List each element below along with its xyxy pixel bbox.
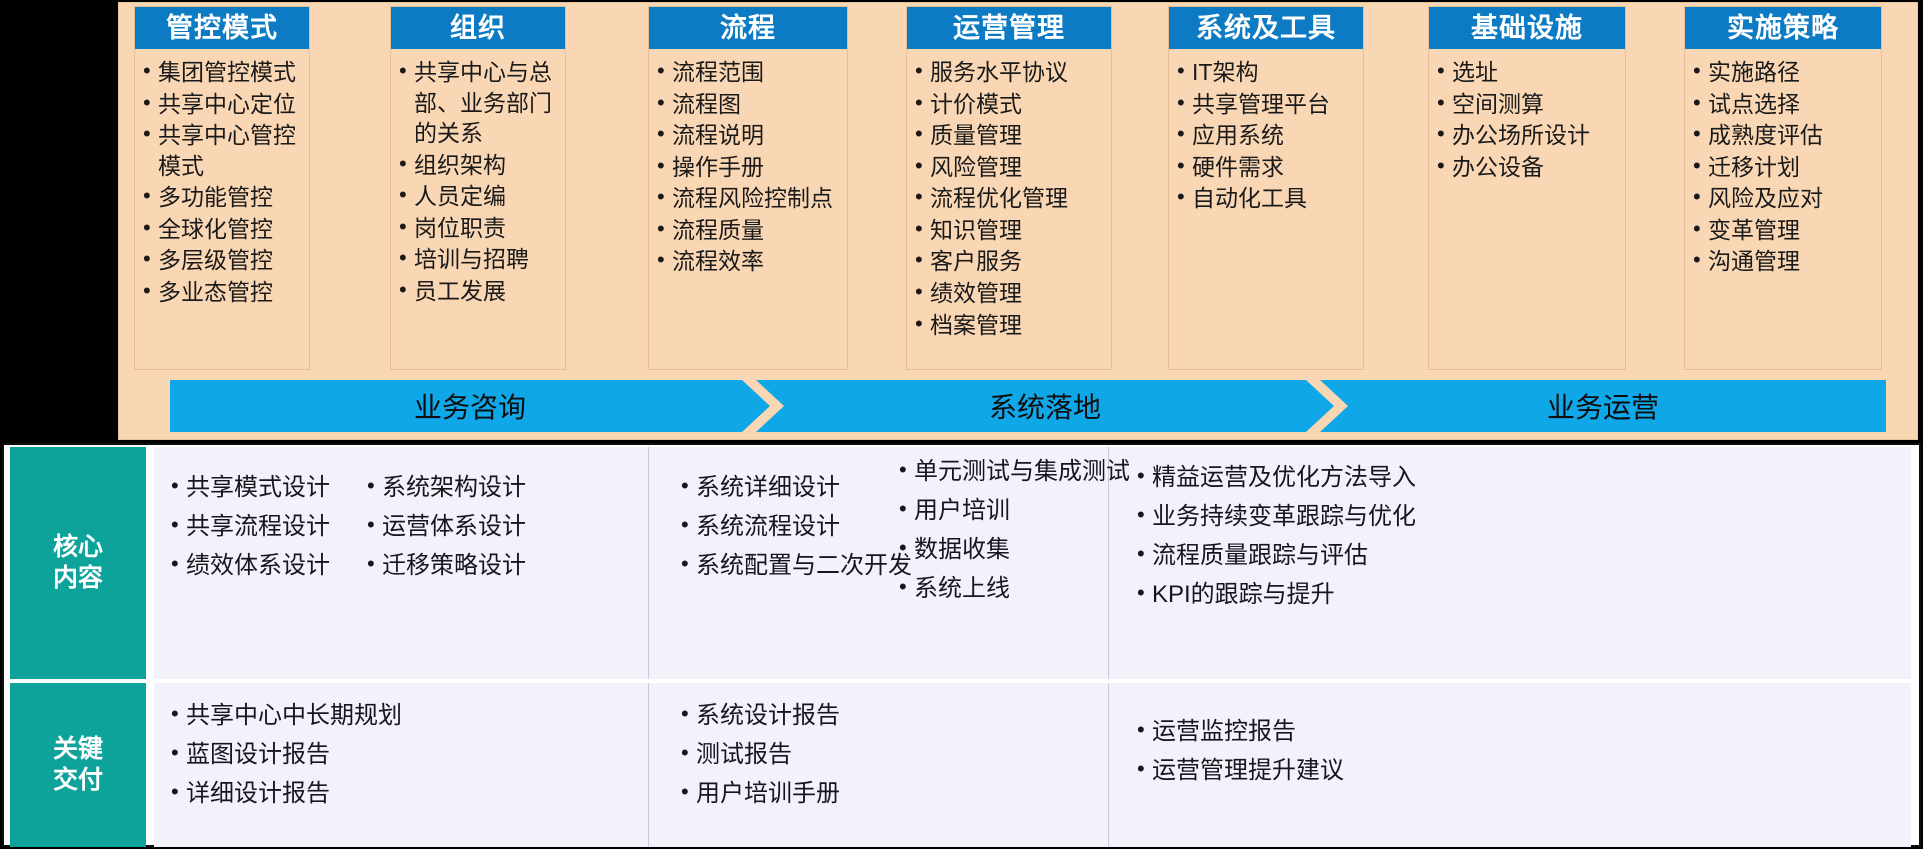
card-item: 全球化管控 xyxy=(143,214,305,245)
row-cells-key-deliverables: 共享中心中长期规划 蓝图设计报告 详细设计报告 系统设计报告 测试报告 用户培训… xyxy=(154,683,1911,847)
card-title: 基础设施 xyxy=(1429,7,1625,49)
card-title: 运营管理 xyxy=(907,7,1111,49)
cell-item: 精益运营及优化方法导入 xyxy=(1136,459,1510,498)
card-item-list: 集团管控模式 共享中心定位 共享中心管控模式 多功能管控 全球化管控 多层级管控… xyxy=(143,57,305,308)
matrix-cell[interactable]: 运营监控报告 运营管理提升建议 xyxy=(1120,683,1540,847)
card-item: 组织架构 xyxy=(399,150,561,181)
cell-item: 系统流程设计 xyxy=(680,508,904,547)
cell-item-list: 单元测试与集成测试 用户培训 数据收集 系统上线 xyxy=(898,453,1112,609)
diagram-root: 管控模式 集团管控模式 共享中心定位 共享中心管控模式 多功能管控 全球化管控 … xyxy=(0,0,1923,849)
card-body: 共享中心与总部、业务部门的关系 组织架构 人员定编 岗位职责 培训与招聘 员工发… xyxy=(391,49,565,369)
matrix-cell[interactable]: 系统架构设计 运营体系设计 迁移策略设计 xyxy=(350,447,550,679)
card-item: 风险管理 xyxy=(915,152,1107,183)
card-item: 空间测算 xyxy=(1437,89,1621,120)
cell-item: 迁移策略设计 xyxy=(366,547,540,586)
card-item: 员工发展 xyxy=(399,276,561,307)
capability-card-6[interactable]: 实施策略 实施路径 试点选择 成熟度评估 迁移计划 风险及应对 变革管理 沟通管… xyxy=(1684,6,1882,370)
matrix-cell[interactable]: 共享模式设计 共享流程设计 绩效体系设计 xyxy=(154,447,354,679)
cell-item: 绩效体系设计 xyxy=(170,547,344,586)
cell-item: 测试报告 xyxy=(680,736,954,775)
matrix-cell[interactable]: 系统详细设计 系统流程设计 系统配置与二次开发 xyxy=(664,447,914,679)
cell-item: 数据收集 xyxy=(898,531,1112,570)
cell-item: 系统架构设计 xyxy=(366,469,540,508)
capability-card-3[interactable]: 运营管理 服务水平协议 计价模式 质量管理 风险管理 流程优化管理 知识管理 客… xyxy=(906,6,1112,370)
cell-item: 运营监控报告 xyxy=(1136,713,1530,752)
card-item: 流程范围 xyxy=(657,57,843,88)
cell-divider xyxy=(648,447,649,679)
card-item: 集团管控模式 xyxy=(143,57,305,88)
row-label-line2: 内容 xyxy=(53,563,103,594)
phase-label: 系统落地 xyxy=(989,386,1101,426)
card-item: 客户服务 xyxy=(915,246,1107,277)
card-item: 质量管理 xyxy=(915,120,1107,151)
cell-item: 用户培训 xyxy=(898,492,1112,531)
row-label-line1: 核心 xyxy=(53,532,103,563)
cell-item: 系统设计报告 xyxy=(680,697,954,736)
card-item: 办公场所设计 xyxy=(1437,120,1621,151)
phase-arrow-2[interactable]: 业务运营 xyxy=(1320,380,1886,432)
card-body: IT架构 共享管理平台 应用系统 硬件需求 自动化工具 xyxy=(1169,49,1363,369)
card-item: 操作手册 xyxy=(657,152,843,183)
phase-label: 业务咨询 xyxy=(414,386,526,426)
row-label-line1: 关键 xyxy=(53,734,103,765)
cell-item: 详细设计报告 xyxy=(170,775,544,814)
matrix-cell[interactable]: 精益运营及优化方法导入 业务持续变革跟踪与优化 流程质量跟踪与评估 KPI的跟踪… xyxy=(1120,447,1520,679)
card-item: 共享管理平台 xyxy=(1177,89,1359,120)
card-item: 人员定编 xyxy=(399,181,561,212)
card-title: 管控模式 xyxy=(135,7,309,49)
row-cells-core-content: 共享模式设计 共享流程设计 绩效体系设计 系统架构设计 运营体系设计 迁移策略设… xyxy=(154,447,1911,679)
card-title: 实施策略 xyxy=(1685,7,1881,49)
cell-item: 流程质量跟踪与评估 xyxy=(1136,537,1510,576)
cell-item: 运营体系设计 xyxy=(366,508,540,547)
cell-item: 蓝图设计报告 xyxy=(170,736,544,775)
row-label-key-deliverables: 关键 交付 xyxy=(10,683,146,847)
cell-item: 系统上线 xyxy=(898,570,1112,609)
matrix-cell[interactable]: 共享中心中长期规划 蓝图设计报告 详细设计报告 xyxy=(154,683,554,847)
card-item: 多层级管控 xyxy=(143,245,305,276)
matrix-row-core-content: 核心 内容 共享模式设计 共享流程设计 绩效体系设计 系统架构设计 运营体系 xyxy=(4,447,1919,679)
card-item: 档案管理 xyxy=(915,310,1107,341)
card-body: 服务水平协议 计价模式 质量管理 风险管理 流程优化管理 知识管理 客户服务 绩… xyxy=(907,49,1111,369)
capability-card-2[interactable]: 流程 流程范围 流程图 流程说明 操作手册 流程风险控制点 流程质量 流程效率 xyxy=(648,6,848,370)
cell-item: 业务持续变革跟踪与优化 xyxy=(1136,498,1510,537)
phase-arrow-1[interactable]: 系统落地 xyxy=(756,380,1334,432)
card-item: 绩效管理 xyxy=(915,278,1107,309)
card-item-list: IT架构 共享管理平台 应用系统 硬件需求 自动化工具 xyxy=(1177,57,1359,214)
cell-item: 运营管理提升建议 xyxy=(1136,752,1530,791)
card-item: 硬件需求 xyxy=(1177,152,1359,183)
card-item: 培训与招聘 xyxy=(399,244,561,275)
capability-card-4[interactable]: 系统及工具 IT架构 共享管理平台 应用系统 硬件需求 自动化工具 xyxy=(1168,6,1364,370)
cell-item: 单元测试与集成测试 xyxy=(898,453,1112,492)
card-title: 流程 xyxy=(649,7,847,49)
row-label-core-content: 核心 内容 xyxy=(10,447,146,679)
card-item: 自动化工具 xyxy=(1177,183,1359,214)
card-item-list: 共享中心与总部、业务部门的关系 组织架构 人员定编 岗位职责 培训与招聘 员工发… xyxy=(399,57,561,307)
detail-matrix: 核心 内容 共享模式设计 共享流程设计 绩效体系设计 系统架构设计 运营体系 xyxy=(2,443,1921,847)
card-body: 集团管控模式 共享中心定位 共享中心管控模式 多功能管控 全球化管控 多层级管控… xyxy=(135,49,309,369)
card-item: 流程风险控制点 xyxy=(657,183,843,214)
cell-item-list: 精益运营及优化方法导入 业务持续变革跟踪与优化 流程质量跟踪与评估 KPI的跟踪… xyxy=(1136,459,1510,615)
capability-card-5[interactable]: 基础设施 选址 空间测算 办公场所设计 办公设备 xyxy=(1428,6,1626,370)
card-item-list: 流程范围 流程图 流程说明 操作手册 流程风险控制点 流程质量 流程效率 xyxy=(657,57,843,277)
card-item: 迁移计划 xyxy=(1693,152,1877,183)
card-item: 多功能管控 xyxy=(143,182,305,213)
card-item: 沟通管理 xyxy=(1693,246,1877,277)
capability-card-1[interactable]: 组织 共享中心与总部、业务部门的关系 组织架构 人员定编 岗位职责 培训与招聘 … xyxy=(390,6,566,370)
cell-item: 用户培训手册 xyxy=(680,775,954,814)
card-item: 知识管理 xyxy=(915,215,1107,246)
card-body: 选址 空间测算 办公场所设计 办公设备 xyxy=(1429,49,1625,369)
card-item-list: 选址 空间测算 办公场所设计 办公设备 xyxy=(1437,57,1621,182)
cell-item-list: 运营监控报告 运营管理提升建议 xyxy=(1136,713,1530,791)
card-item: 选址 xyxy=(1437,57,1621,88)
card-item: 多业态管控 xyxy=(143,277,305,308)
cell-item-list: 系统架构设计 运营体系设计 迁移策略设计 xyxy=(366,469,540,586)
card-item: 共享中心与总部、业务部门的关系 xyxy=(399,57,561,149)
cell-item: 共享中心中长期规划 xyxy=(170,697,544,736)
card-item: 岗位职责 xyxy=(399,213,561,244)
card-item-list: 服务水平协议 计价模式 质量管理 风险管理 流程优化管理 知识管理 客户服务 绩… xyxy=(915,57,1107,340)
card-body: 实施路径 试点选择 成熟度评估 迁移计划 风险及应对 变革管理 沟通管理 xyxy=(1685,49,1881,369)
card-item: 共享中心定位 xyxy=(143,89,305,120)
cell-item: KPI的跟踪与提升 xyxy=(1136,576,1510,615)
card-item: 流程质量 xyxy=(657,215,843,246)
cell-item: 系统详细设计 xyxy=(680,469,904,508)
card-item: 实施路径 xyxy=(1693,57,1877,88)
card-item: 成熟度评估 xyxy=(1693,120,1877,151)
cell-item-list: 共享模式设计 共享流程设计 绩效体系设计 xyxy=(170,469,344,586)
matrix-cell[interactable]: 系统设计报告 测试报告 用户培训手册 xyxy=(664,683,964,847)
cell-item-list: 系统详细设计 系统流程设计 系统配置与二次开发 xyxy=(680,469,904,586)
matrix-cell[interactable]: 单元测试与集成测试 用户培训 数据收集 系统上线 xyxy=(882,447,1122,679)
card-title: 系统及工具 xyxy=(1169,7,1363,49)
card-item: 办公设备 xyxy=(1437,152,1621,183)
card-item: 服务水平协议 xyxy=(915,57,1107,88)
card-item: 流程优化管理 xyxy=(915,183,1107,214)
phase-label: 业务运营 xyxy=(1547,386,1659,426)
card-item-list: 实施路径 试点选择 成熟度评估 迁移计划 风险及应对 变革管理 沟通管理 xyxy=(1693,57,1877,277)
card-item: 流程效率 xyxy=(657,246,843,277)
card-item: 变革管理 xyxy=(1693,215,1877,246)
card-item: 共享中心管控模式 xyxy=(143,120,305,181)
card-body: 流程范围 流程图 流程说明 操作手册 流程风险控制点 流程质量 流程效率 xyxy=(649,49,847,369)
card-item: 风险及应对 xyxy=(1693,183,1877,214)
row-label-line2: 交付 xyxy=(53,765,103,796)
matrix-row-key-deliverables: 关键 交付 共享中心中长期规划 蓝图设计报告 详细设计报告 系统设计报告 测 xyxy=(4,683,1919,847)
cell-item: 共享流程设计 xyxy=(170,508,344,547)
cell-item: 共享模式设计 xyxy=(170,469,344,508)
card-item: 计价模式 xyxy=(915,89,1107,120)
phase-arrow-0[interactable]: 业务咨询 xyxy=(170,380,770,432)
card-item: 流程说明 xyxy=(657,120,843,151)
card-item: IT架构 xyxy=(1177,57,1359,88)
card-item: 应用系统 xyxy=(1177,120,1359,151)
card-item: 流程图 xyxy=(657,89,843,120)
cell-divider xyxy=(648,683,649,847)
cell-item: 系统配置与二次开发 xyxy=(680,547,904,586)
card-item: 试点选择 xyxy=(1693,89,1877,120)
cell-item-list: 共享中心中长期规划 蓝图设计报告 详细设计报告 xyxy=(170,697,544,814)
capability-card-0[interactable]: 管控模式 集团管控模式 共享中心定位 共享中心管控模式 多功能管控 全球化管控 … xyxy=(134,6,310,370)
cell-item-list: 系统设计报告 测试报告 用户培训手册 xyxy=(680,697,954,814)
card-title: 组织 xyxy=(391,7,565,49)
cell-divider xyxy=(1108,683,1109,847)
